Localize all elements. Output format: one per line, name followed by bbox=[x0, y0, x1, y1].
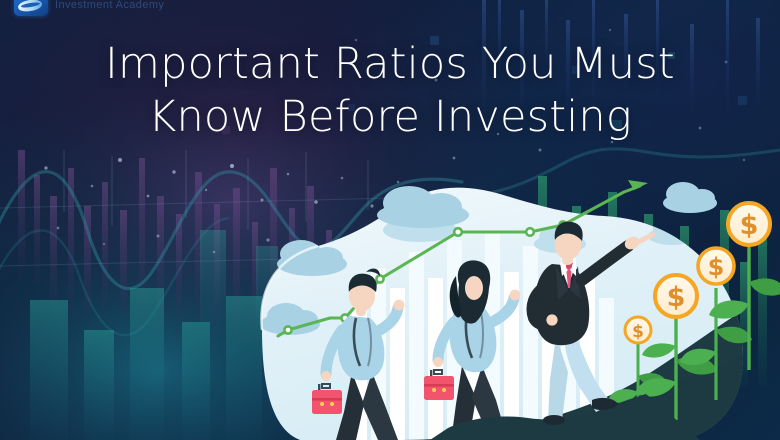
cloud-icon bbox=[648, 218, 696, 245]
leaf-icon bbox=[749, 278, 780, 295]
brand-logo[interactable]: Investment Academy bbox=[14, 0, 164, 16]
cloud-icon bbox=[663, 182, 717, 213]
line-node bbox=[454, 228, 462, 236]
svg-text:$: $ bbox=[632, 322, 644, 342]
investors-illustration: $ $ $ bbox=[0, 0, 780, 440]
swoosh-logo-icon bbox=[14, 0, 48, 16]
line-node bbox=[284, 326, 291, 333]
brand-name: Investment Academy bbox=[55, 0, 164, 11]
svg-text:$: $ bbox=[740, 210, 759, 241]
line-node bbox=[376, 275, 383, 282]
svg-text:$: $ bbox=[667, 282, 686, 313]
investing-banner: Investment Academy Important Ratios You … bbox=[0, 0, 780, 440]
svg-text:$: $ bbox=[708, 253, 725, 281]
shoe bbox=[543, 415, 565, 425]
line-node bbox=[526, 228, 534, 236]
